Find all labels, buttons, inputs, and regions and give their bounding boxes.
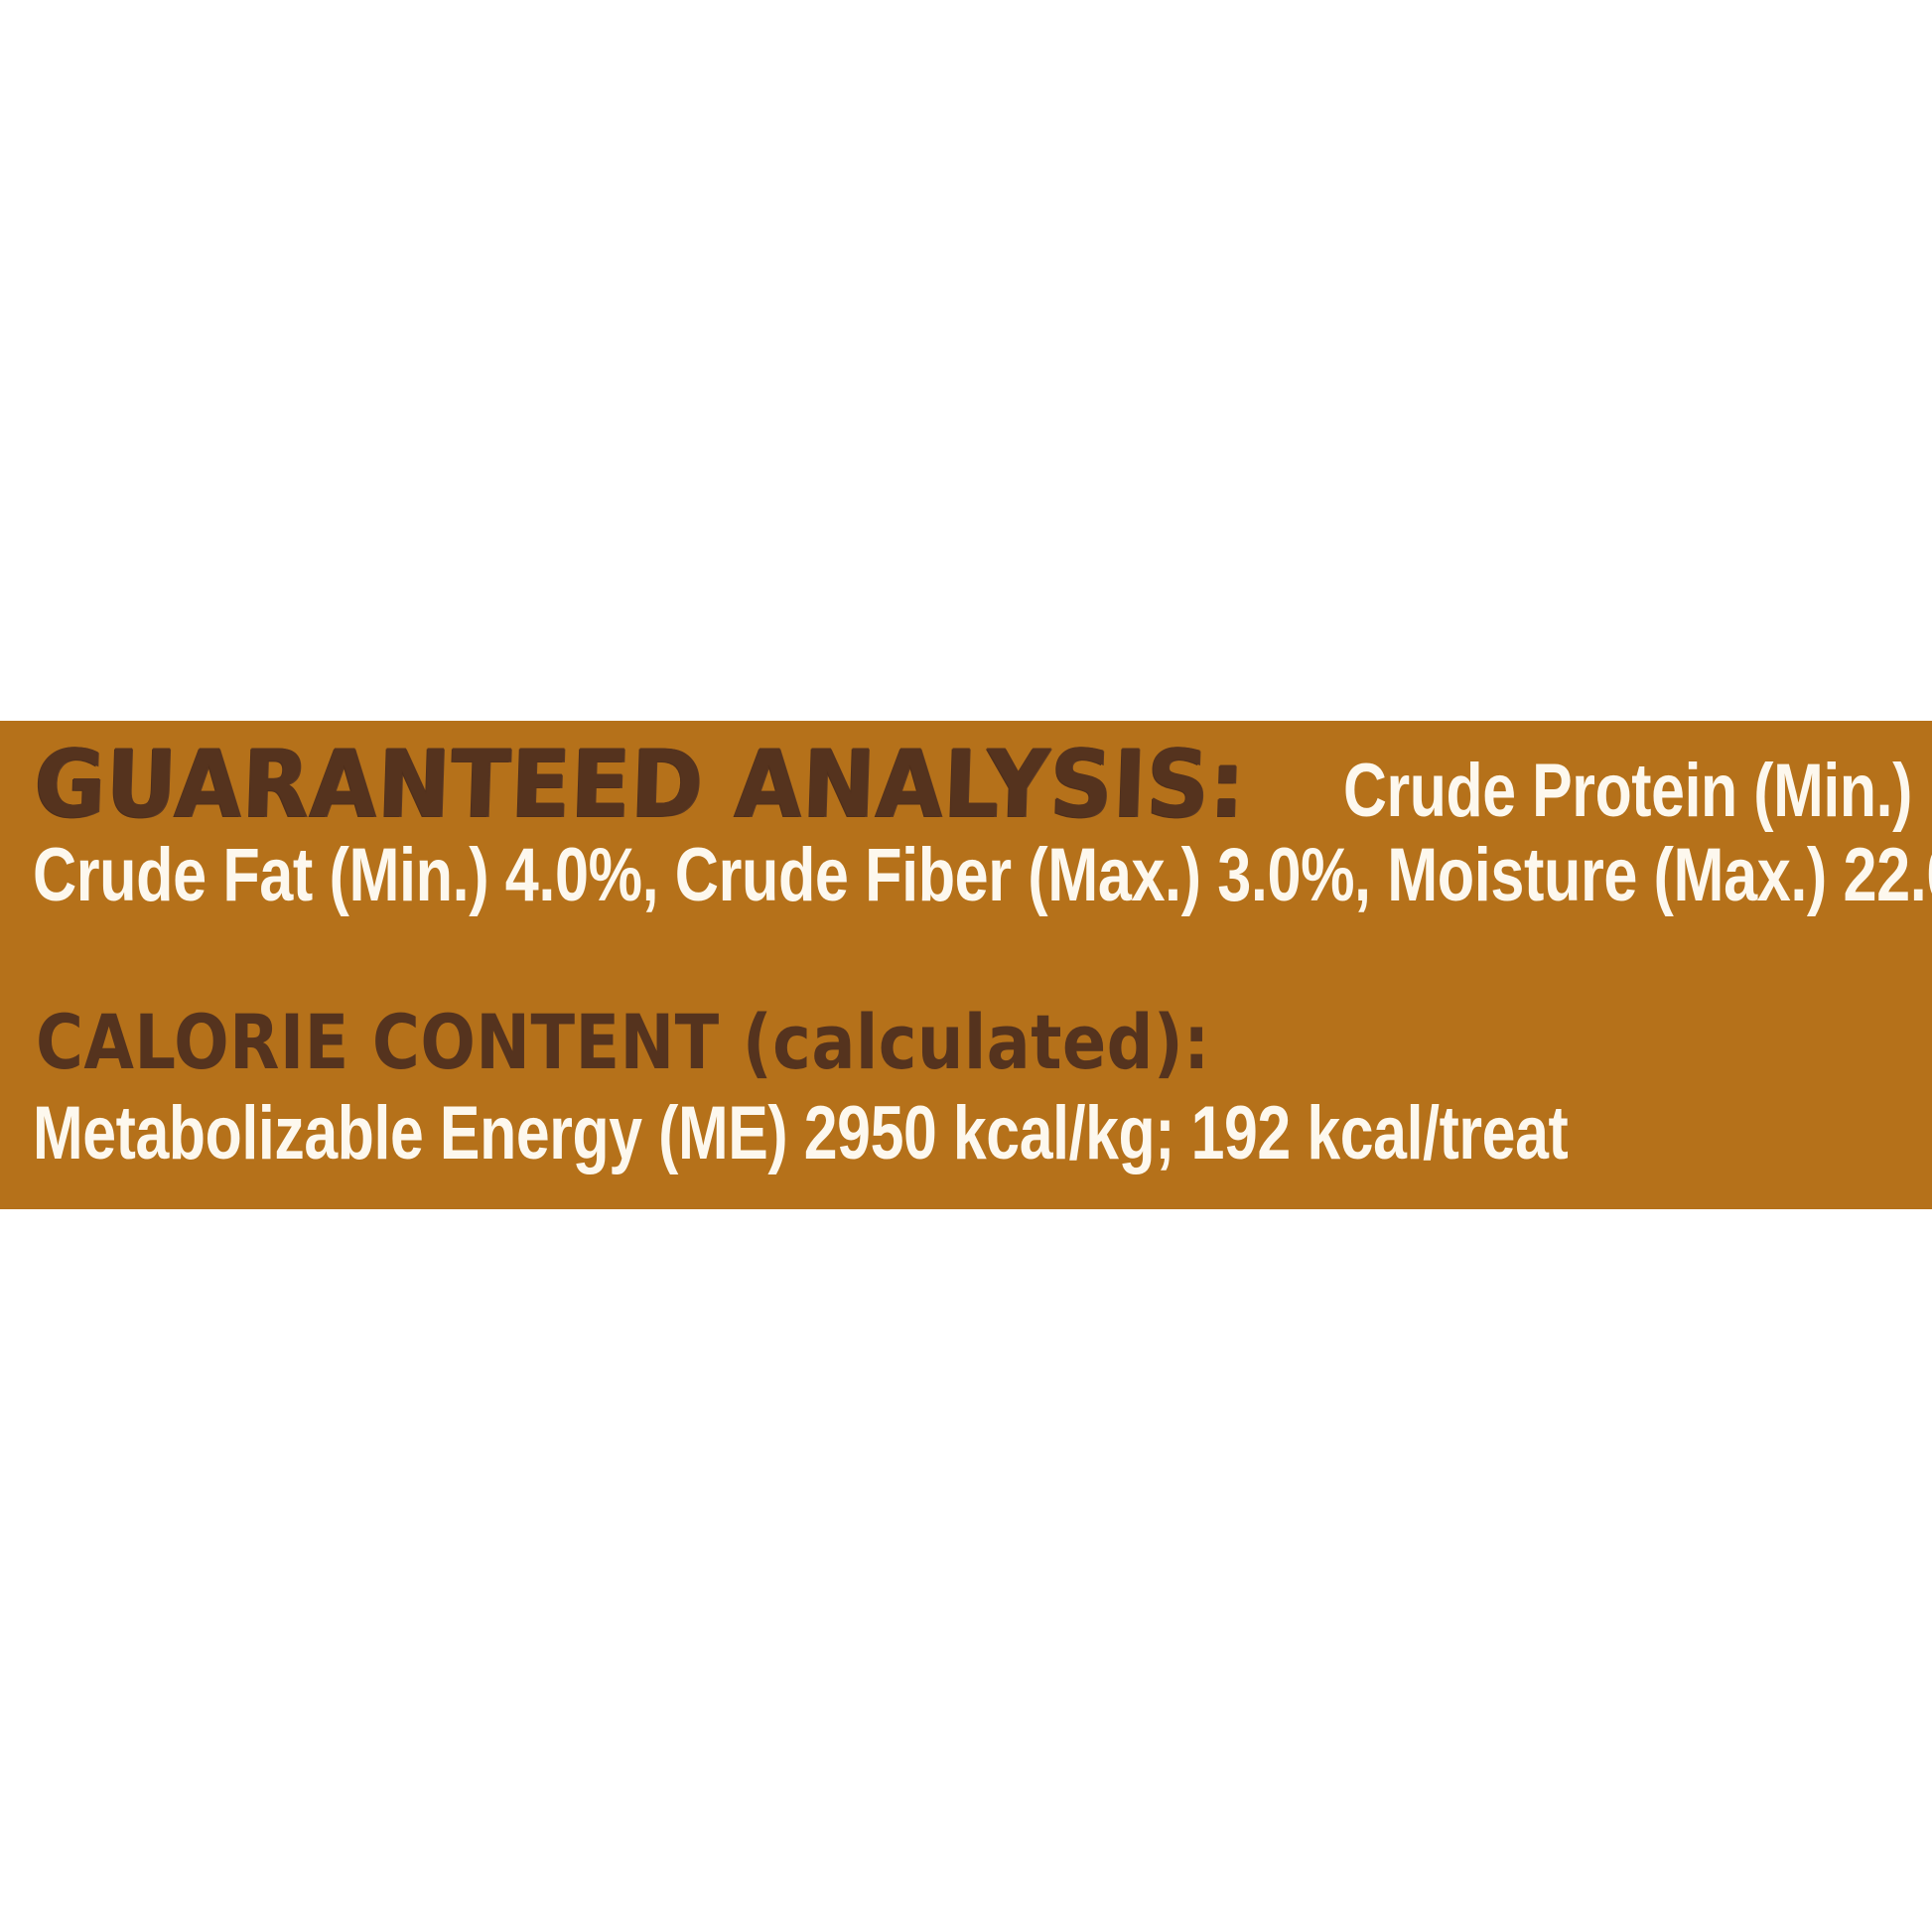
nutrition-info-band: GUARANTEED ANALYSIS:Crude Protein (Min.)… bbox=[0, 721, 1932, 1209]
guaranteed-analysis-heading: GUARANTEED ANALYSIS: bbox=[33, 739, 1247, 832]
calorie-content-heading-line: CALORIE CONTENT (calculated): bbox=[36, 1005, 1401, 1080]
guaranteed-analysis-line1-values: Crude Protein (Min.) 13.0%, bbox=[1343, 754, 1932, 829]
calorie-content-heading: CALORIE CONTENT (calculated): bbox=[36, 1005, 1210, 1080]
guaranteed-analysis-first-line: GUARANTEED ANALYSIS:Crude Protein (Min.)… bbox=[33, 739, 1919, 832]
guaranteed-analysis-second-line: Crude Fat (Min.) 4.0%, Crude Fiber (Max.… bbox=[33, 838, 1929, 913]
calorie-content-value-line: Metabolizable Energy (ME) 2950 kcal/kg; … bbox=[33, 1096, 1932, 1172]
pet-food-label-panel: GUARANTEED ANALYSIS:Crude Protein (Min.)… bbox=[0, 0, 1932, 1932]
metabolizable-energy-value: Metabolizable Energy (ME) 2950 kcal/kg; … bbox=[33, 1096, 1568, 1172]
guaranteed-analysis-line2-values: Crude Fat (Min.) 4.0%, Crude Fiber (Max.… bbox=[33, 838, 1932, 913]
